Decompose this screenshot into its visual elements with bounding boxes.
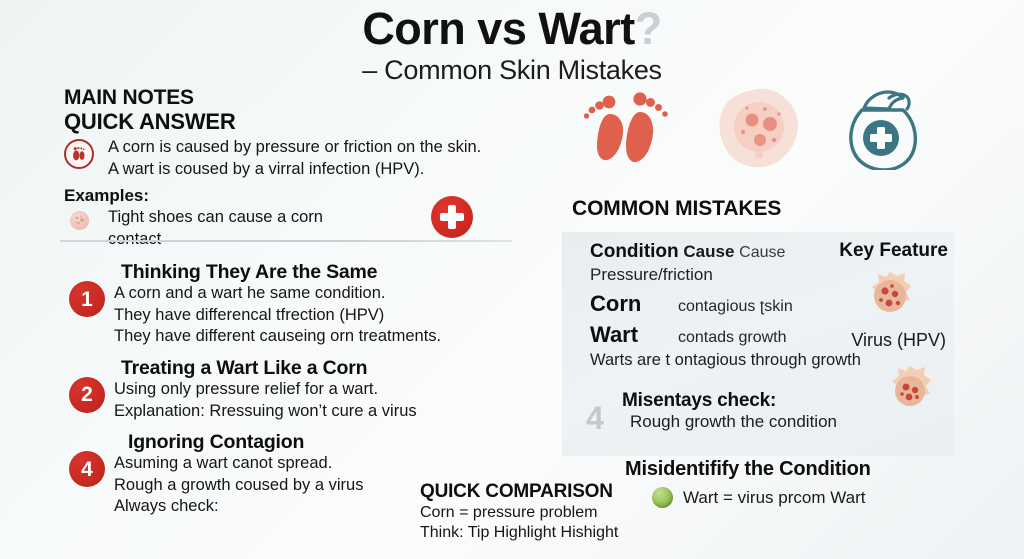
list-item-title: Treating a Wart Like a Corn [121, 357, 524, 379]
misidentify-row: Wart = virus prcᴏm Wart [652, 487, 865, 508]
wart-bullet-icon [70, 211, 89, 230]
number-badge: 4 [69, 451, 105, 487]
list-item: 1 Thinking They Are the Same A corn and … [64, 261, 524, 348]
quick-answer-block: A corn is caused by pressure or friction… [64, 136, 534, 180]
card-mistake-sub: Rough growth the condition [630, 412, 916, 433]
card-mistake-row: 4 Misentays check: Rough growth the cond… [586, 390, 916, 433]
key-feature-label: Key Feature [839, 240, 948, 262]
quick-answer-line-1: A corn is caused by pressure or friction… [108, 136, 534, 158]
quick-comparison-line: Corn = pressure problem [420, 503, 680, 523]
list-item-line: Using only pressure relief for a wart. [114, 379, 524, 400]
question-mark-glyph: ? [635, 3, 662, 54]
list-item: 2 Treating a Wart Like a Corn Using only… [64, 357, 524, 422]
footprints-icon [580, 88, 676, 171]
misidentify-title: Misidentifify the Condition [625, 458, 871, 481]
ghost-number: 4 [586, 402, 604, 434]
list-item-line: They have different causeing orn treatme… [114, 326, 524, 347]
comparison-card: Condition Cause Cause Pressure/friction … [562, 232, 954, 456]
list-item-line: Explanation: Rressuing won’t cure a viru… [114, 401, 524, 422]
hero-illustrations [560, 86, 960, 168]
red-cross-icon [431, 196, 473, 238]
list-item-title: Ignoring Contagion [128, 431, 524, 453]
card-mistake-title: Misentays check: [622, 390, 916, 412]
table-row: Wart contads growth [590, 322, 890, 348]
medical-bag-icon [840, 82, 924, 175]
row-value-corn: contagious ʈskin [678, 298, 793, 316]
page-title-text: Corn vs Wart [362, 3, 634, 54]
column-header-condition: Condition [590, 241, 679, 262]
column-header-cause-2: Cause [739, 244, 785, 261]
virus-cell-icon [854, 264, 926, 337]
quick-answer-label: QUICK ANSWER [64, 110, 534, 135]
comparison-subhead: Pressure/friction [590, 264, 890, 286]
quick-comparison-title: QUICK COMPARISON [420, 481, 680, 503]
wart-blob-icon [716, 86, 802, 173]
infographic-canvas: Corn vs Wart? – Common Skin Mistakes MAI… [0, 0, 1024, 559]
main-notes-label: MAIN NOTES [64, 86, 534, 110]
page-title: Corn vs Wart? [362, 6, 661, 53]
footprint-badge-icon [64, 139, 94, 169]
column-header-cause: Cause [683, 242, 734, 261]
quick-comparison-line: Think: Tip Highlight Hishight [420, 523, 680, 543]
row-label-corn: Corn [590, 291, 664, 317]
list-item-title: Thinking They Are the Same [121, 261, 524, 283]
number-badge: 1 [69, 281, 105, 317]
virus-hpv-label: Virus (HPV) [851, 330, 946, 351]
list-item-line: A corn and a wart he same condition. [114, 283, 524, 304]
common-mistakes-heading: COMMON MISTAKES [572, 197, 781, 221]
quick-answer-line-2: A wart is coused by a virral infection (… [108, 158, 534, 180]
number-badge: 2 [69, 377, 105, 413]
list-item-line: They have differencal tfrection (HPV) [114, 305, 524, 326]
list-item-line: Asuming a wart canot spread. [114, 453, 524, 474]
misidentify-text: Wart = virus prcᴏm Wart [683, 488, 865, 508]
title-block: Corn vs Wart? – Common Skin Mistakes [0, 6, 1024, 86]
row-value-wart: contads growth [678, 329, 787, 347]
section-divider [60, 240, 512, 242]
comparison-note: Warts are t ontagious through growth [590, 351, 890, 370]
table-row: Corn contagious ʈskin [590, 291, 890, 317]
green-dot-icon [652, 487, 673, 508]
quick-comparison-block: QUICK COMPARISON Corn = pressure problem… [420, 481, 680, 543]
mistakes-list: 1 Thinking They Are the Same A corn and … [64, 252, 524, 518]
row-label-wart: Wart [590, 322, 664, 348]
